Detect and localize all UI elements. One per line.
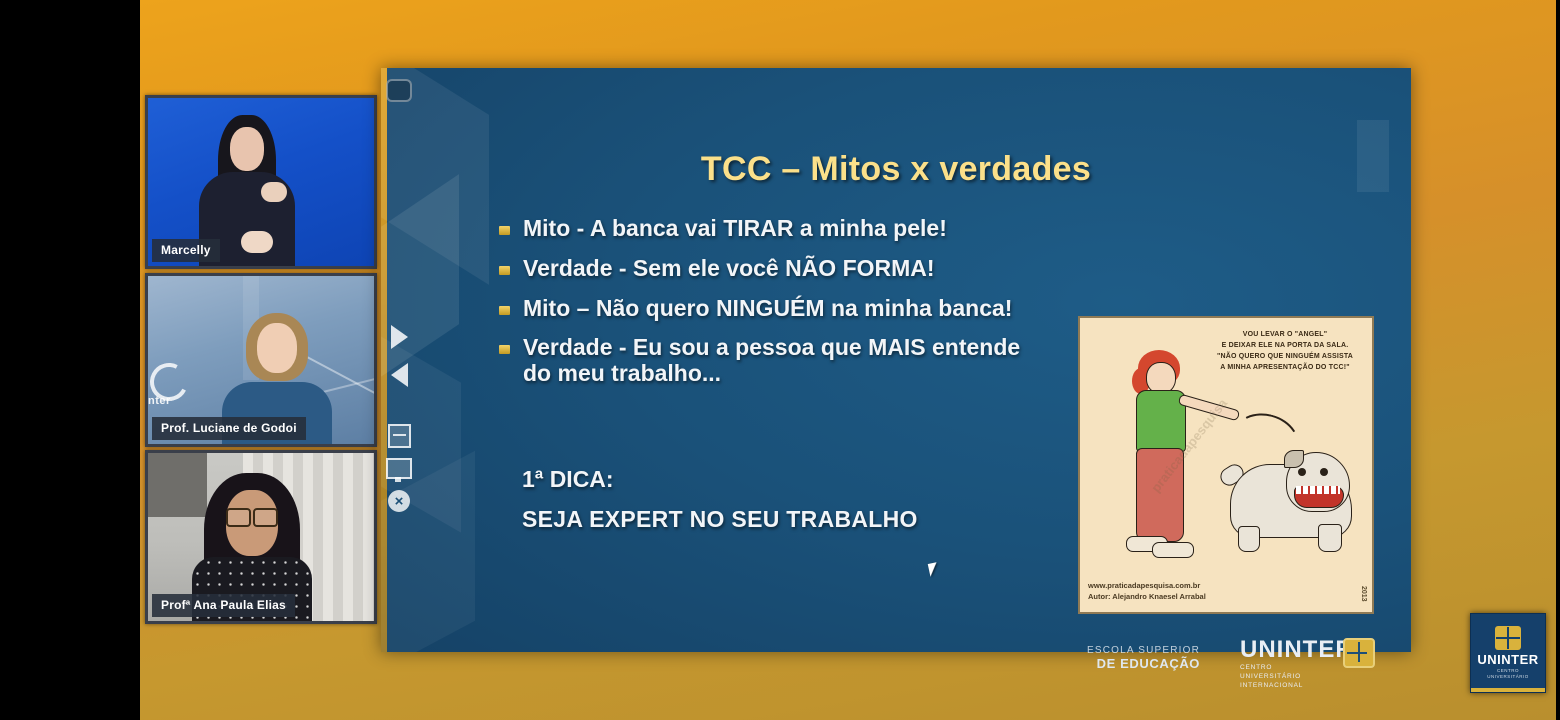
- school-logo: ESCOLA SUPERIOR DE EDUCAÇÃO: [1087, 645, 1200, 671]
- letterbox-left: [0, 0, 140, 720]
- slide-bullet: Verdade - Sem ele você NÃO FORMA!: [491, 256, 1051, 282]
- cartoon-author: Autor: Alejandro Knaesel Arrabal: [1088, 591, 1206, 602]
- previous-slide-button[interactable]: [385, 361, 413, 389]
- cartoon-side-mark: 2013: [1360, 586, 1367, 602]
- person-face: [230, 127, 264, 171]
- slide-cartoon-image: VOU LEVAR O "ANGEL" E DEIXAR ELE NA PORT…: [1078, 316, 1374, 614]
- video-tile-luciane[interactable]: nter Prof. Luciane de Godoi: [145, 273, 377, 447]
- slide-bullet: Verdade - Eu sou a pessoa que MAIS enten…: [491, 335, 1051, 387]
- uninter-logo: UNINTER CENTRO UNIVERSITÁRIO INTERNACION…: [1240, 638, 1354, 690]
- school-logo-line1: ESCOLA SUPERIOR: [1087, 645, 1200, 657]
- cartoon-caption-line: A MINHA APRESENTAÇÃO DO TCC!": [1204, 363, 1366, 374]
- uninter-logo-sub: CENTRO UNIVERSITÁRIO INTERNACIONAL: [1240, 664, 1354, 690]
- watermark-accent-bar: [1471, 688, 1545, 692]
- eyeglasses-icon: [226, 508, 278, 523]
- cartoon-caption-line: "NÃO QUERO QUE NINGUÉM ASSISTA: [1204, 352, 1366, 363]
- person-hand: [261, 182, 287, 202]
- cartoon-dog-leg-2: [1318, 524, 1342, 552]
- cartoon-caption: VOU LEVAR O "ANGEL" E DEIXAR ELE NA PORT…: [1204, 330, 1366, 373]
- globe-icon: [1343, 638, 1375, 668]
- person-face: [257, 323, 297, 373]
- slide-title: TCC – Mitos x verdades: [381, 150, 1411, 189]
- uninter-watermark-logo: UNINTER CENTRO UNIVERSITÁRIO: [1470, 613, 1546, 693]
- slide-tip-label: 1ª DICA:: [522, 466, 614, 493]
- video-tile-marcelly[interactable]: Marcelly: [145, 95, 377, 269]
- participant-name-label: Profª Ana Paula Elias: [152, 594, 295, 617]
- watermark-sub-line: UNIVERSITÁRIO: [1487, 674, 1529, 680]
- uninter-sub-line: CENTRO: [1240, 664, 1354, 673]
- slide-bullet: Mito – Não quero NINGUÉM na minha banca!: [491, 296, 1051, 322]
- next-slide-button[interactable]: [385, 323, 413, 351]
- close-icon: ×: [388, 490, 410, 512]
- slide-toolbar: ×: [381, 68, 417, 652]
- letterbox-right: [1556, 0, 1560, 720]
- close-share-button[interactable]: ×: [385, 487, 413, 515]
- participant-name-label: Prof. Luciane de Godoi: [152, 417, 306, 440]
- globe-icon: [1495, 626, 1521, 650]
- backdrop-logo-text: nter: [148, 395, 171, 407]
- slide-list-icon: [388, 424, 411, 448]
- play-triangle-icon: [391, 325, 408, 349]
- cartoon-credit: www.praticadapesquisa.com.br Autor: Alej…: [1088, 580, 1206, 603]
- slide-list-button[interactable]: [385, 422, 413, 450]
- school-logo-line2: DE EDUCAÇÃO: [1087, 657, 1200, 672]
- cartoon-site: www.praticadapesquisa.com.br: [1088, 580, 1206, 591]
- uninter-sub-line: UNIVERSITÁRIO: [1240, 673, 1354, 682]
- cartoon-dog-eye: [1298, 468, 1306, 476]
- screen-icon: [386, 458, 412, 479]
- video-tile-ana-paula[interactable]: Profª Ana Paula Elias: [145, 450, 377, 624]
- present-screen-button[interactable]: [385, 454, 413, 482]
- watermark-sub: CENTRO UNIVERSITÁRIO: [1487, 668, 1529, 680]
- back-triangle-icon: [391, 363, 408, 387]
- slide-bullet: Mito - A banca vai TIRAR a minha pele!: [491, 216, 1051, 242]
- slide-tip-text: SEJA EXPERT NO SEU TRABALHO: [522, 506, 918, 533]
- webinar-screen: Marcelly nter Prof. Luciane de Godoi Pro…: [0, 0, 1560, 720]
- uninter-logo-text: UNINTER: [1240, 638, 1354, 662]
- participant-name-label: Marcelly: [152, 239, 220, 262]
- cartoon-girl-shoe-2: [1152, 542, 1194, 558]
- cartoon-dog-eye-2: [1320, 468, 1328, 476]
- person-hand-2: [241, 231, 273, 253]
- uninter-sub-line: INTERNACIONAL: [1240, 682, 1354, 691]
- cartoon-dog-ear: [1284, 450, 1304, 468]
- watermark-brand: UNINTER: [1477, 652, 1538, 667]
- slide-bullet-list: Mito - A banca vai TIRAR a minha pele! V…: [491, 216, 1051, 401]
- cartoon-caption-line: E DEIXAR ELE NA PORTA DA SALA.: [1204, 341, 1366, 352]
- backdrop-shadow: [148, 453, 207, 517]
- shared-slide[interactable]: TCC – Mitos x verdades Mito - A banca va…: [381, 68, 1411, 652]
- cartoon-dog-leg: [1238, 526, 1260, 552]
- cartoon-caption-line: VOU LEVAR O "ANGEL": [1204, 330, 1366, 341]
- cartoon-dog-teeth: [1296, 486, 1340, 494]
